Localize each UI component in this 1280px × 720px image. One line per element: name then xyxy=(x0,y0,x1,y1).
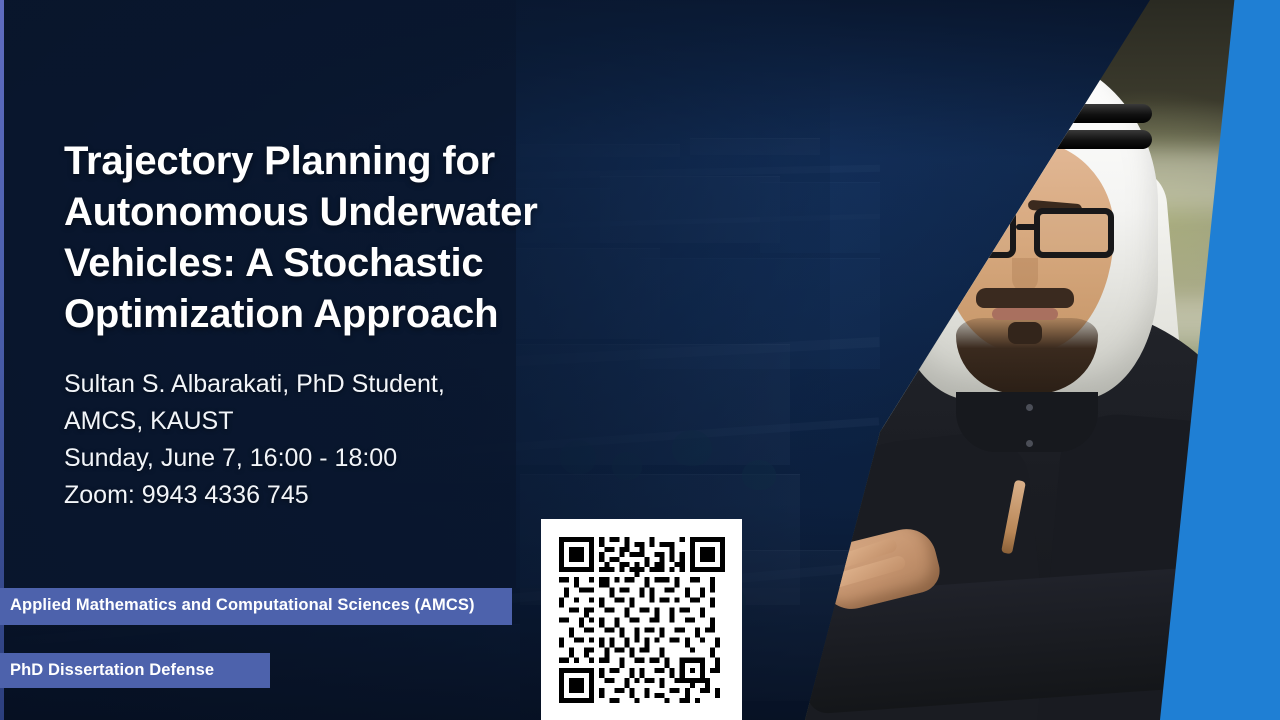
zoom-meeting-id: Zoom: 9943 4336 745 xyxy=(64,477,584,514)
event-details: Sultan S. Albarakati, PhD Student, AMCS,… xyxy=(64,366,584,514)
glasses-bridge xyxy=(1016,224,1038,230)
lips xyxy=(992,308,1058,320)
moustache xyxy=(976,288,1074,308)
event-type-badge: PhD Dissertation Defense xyxy=(0,653,270,688)
qr-code-card[interactable] xyxy=(541,519,742,720)
qr-code-icon xyxy=(559,537,725,703)
page-title: Trajectory Planning for Autonomous Under… xyxy=(64,136,664,340)
lens-right xyxy=(1034,208,1114,258)
department-badge: Applied Mathematics and Computational Sc… xyxy=(0,588,512,625)
speaker-affiliation: AMCS, KAUST xyxy=(64,403,584,440)
event-datetime: Sunday, June 7, 16:00 - 18:00 xyxy=(64,440,584,477)
seminar-announcement-slide: Trajectory Planning for Autonomous Under… xyxy=(0,0,1280,720)
speaker-name: Sultan S. Albarakati, PhD Student, xyxy=(64,366,584,403)
nose xyxy=(1012,258,1038,292)
soul-patch xyxy=(1008,322,1042,344)
